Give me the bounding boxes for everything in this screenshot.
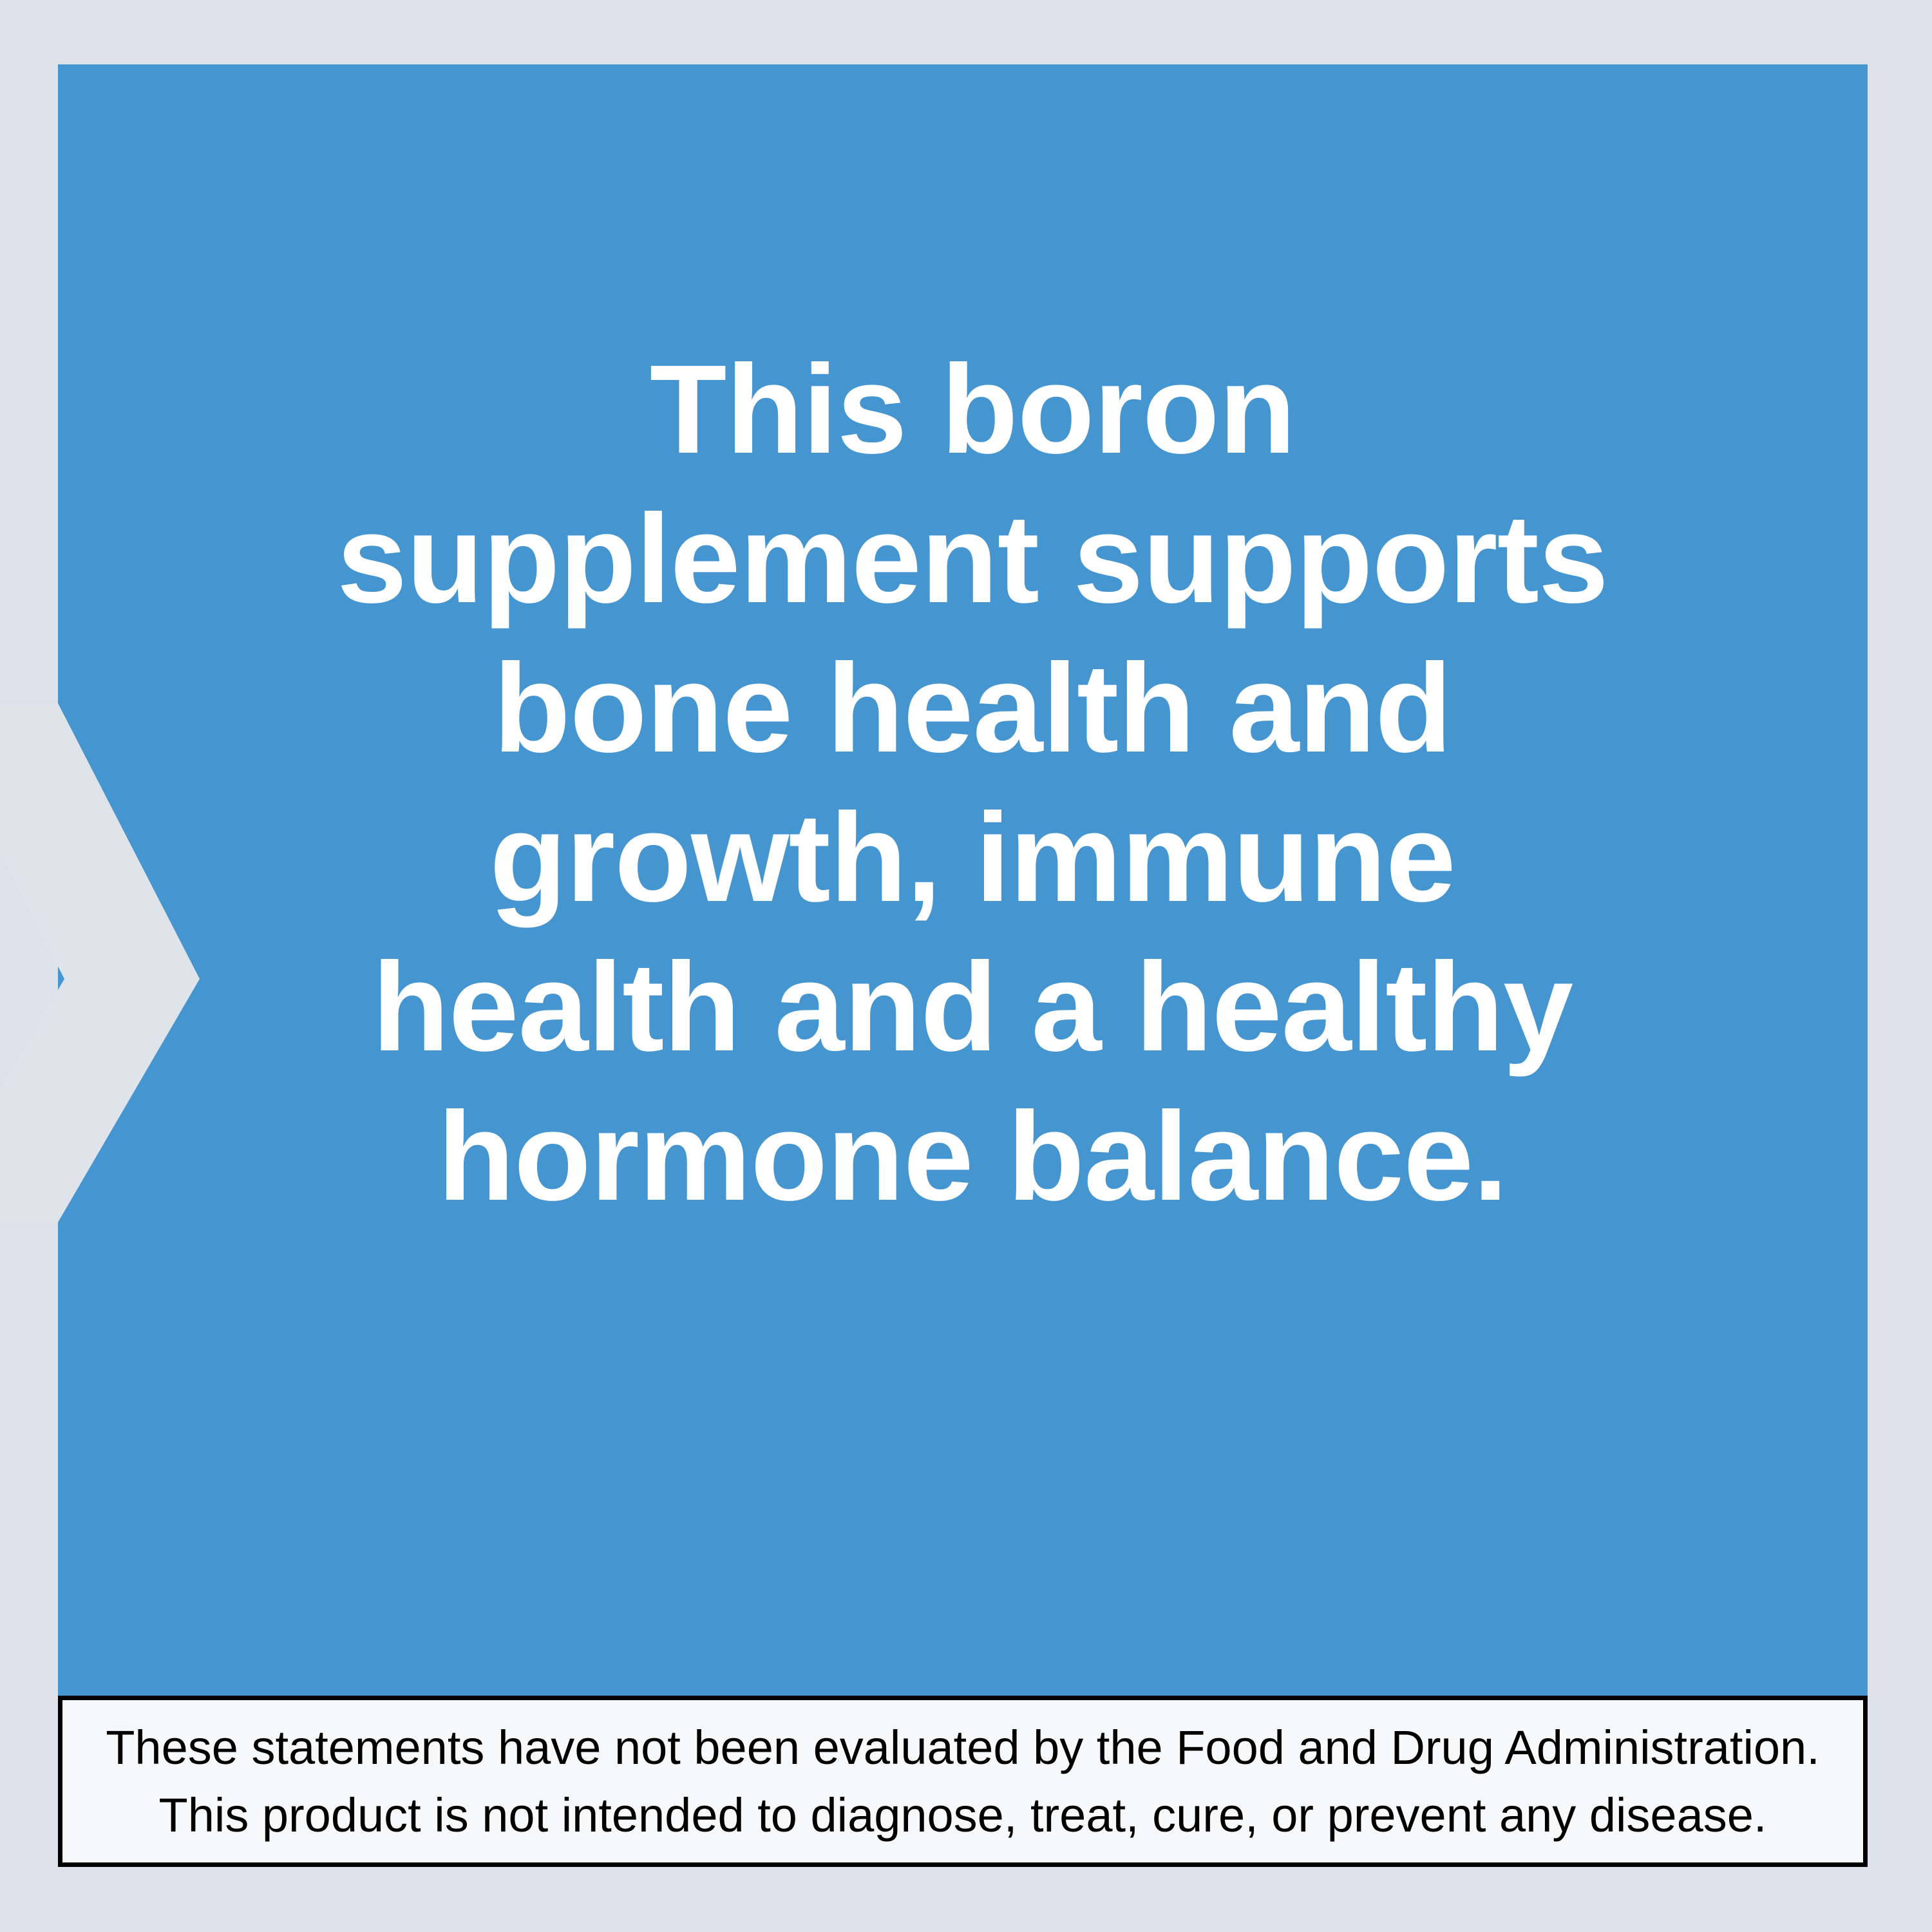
disclaimer-line-1: These statements have not been evaluated… [106, 1714, 1820, 1781]
slide-canvas: This boron supplement supports bone heal… [0, 0, 1932, 1932]
disclaimer-line-2: This product is not intended to diagnose… [159, 1781, 1767, 1849]
headline-block: This boron supplement supports bone heal… [103, 335, 1842, 1231]
page-title: This boron supplement supports bone heal… [103, 335, 1842, 1231]
disclaimer-box: These statements have not been evaluated… [58, 1696, 1868, 1867]
